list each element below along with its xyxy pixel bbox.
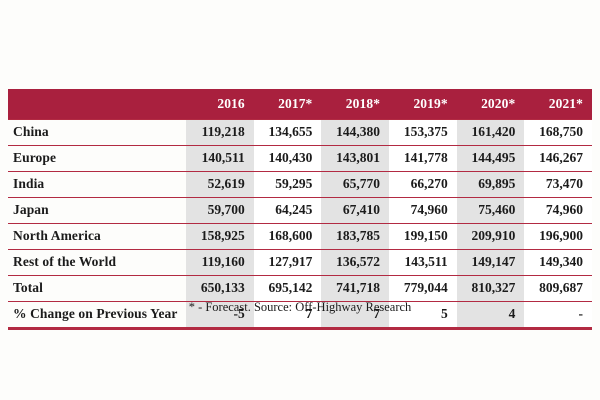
table-cell: 59,700 xyxy=(186,198,254,224)
table-cell: 810,327 xyxy=(457,276,525,302)
table-cell: 74,960 xyxy=(389,198,457,224)
table-cell: 183,785 xyxy=(321,224,389,250)
table-header: 2016 2017* 2018* 2019* 2020* 2021* xyxy=(8,89,592,120)
table-cell: 134,655 xyxy=(254,120,322,146)
table-cell: 695,142 xyxy=(254,276,322,302)
data-table-container: 2016 2017* 2018* 2019* 2020* 2021* China… xyxy=(8,89,592,330)
table-cell: 650,133 xyxy=(186,276,254,302)
table-cell: 153,375 xyxy=(389,120,457,146)
column-header-2019: 2019* xyxy=(389,89,457,120)
table-cell: 52,619 xyxy=(186,172,254,198)
table-cell: 136,572 xyxy=(321,250,389,276)
table-cell: 144,495 xyxy=(457,146,525,172)
row-label: India xyxy=(8,172,186,198)
table-cell: 144,380 xyxy=(321,120,389,146)
table-cell: 809,687 xyxy=(524,276,592,302)
table-cell: 69,895 xyxy=(457,172,525,198)
row-label: Europe xyxy=(8,146,186,172)
page-root: 2016 2017* 2018* 2019* 2020* 2021* China… xyxy=(0,0,600,400)
table-cell: 127,917 xyxy=(254,250,322,276)
table-cell: 741,718 xyxy=(321,276,389,302)
table-cell: 119,218 xyxy=(186,120,254,146)
table-cell: 74,960 xyxy=(524,198,592,224)
table-cell: 168,750 xyxy=(524,120,592,146)
table-cell: 161,420 xyxy=(457,120,525,146)
table-row: North America158,925168,600183,785199,15… xyxy=(8,224,592,250)
table-cell: 64,245 xyxy=(254,198,322,224)
table-cell: 140,511 xyxy=(186,146,254,172)
table-cell: 168,600 xyxy=(254,224,322,250)
table-cell: 779,044 xyxy=(389,276,457,302)
table-cell: 209,910 xyxy=(457,224,525,250)
column-header-2017: 2017* xyxy=(254,89,322,120)
table-cell: 158,925 xyxy=(186,224,254,250)
table-cell: 73,470 xyxy=(524,172,592,198)
table-row: China119,218134,655144,380153,375161,420… xyxy=(8,120,592,146)
forecast-table: 2016 2017* 2018* 2019* 2020* 2021* China… xyxy=(8,89,592,330)
table-row: Japan59,70064,24567,41074,96075,46074,96… xyxy=(8,198,592,224)
column-header-2018: 2018* xyxy=(321,89,389,120)
table-row: Total650,133695,142741,718779,044810,327… xyxy=(8,276,592,302)
column-header-2020: 2020* xyxy=(457,89,525,120)
table-row: Rest of the World119,160127,917136,57214… xyxy=(8,250,592,276)
table-cell: 67,410 xyxy=(321,198,389,224)
table-body: China119,218134,655144,380153,375161,420… xyxy=(8,120,592,329)
table-cell: 75,460 xyxy=(457,198,525,224)
row-label: Rest of the World xyxy=(8,250,186,276)
table-cell: 59,295 xyxy=(254,172,322,198)
table-cell: 149,340 xyxy=(524,250,592,276)
row-label: China xyxy=(8,120,186,146)
table-cell: 119,160 xyxy=(186,250,254,276)
table-cell: 199,150 xyxy=(389,224,457,250)
table-footnote: * - Forecast. Source: Off-Highway Resear… xyxy=(8,300,592,315)
table-cell: 65,770 xyxy=(321,172,389,198)
table-cell: 146,267 xyxy=(524,146,592,172)
table-header-row: 2016 2017* 2018* 2019* 2020* 2021* xyxy=(8,89,592,120)
table-corner-cell xyxy=(8,89,186,120)
table-cell: 141,778 xyxy=(389,146,457,172)
table-cell: 66,270 xyxy=(389,172,457,198)
table-cell: 196,900 xyxy=(524,224,592,250)
row-label: North America xyxy=(8,224,186,250)
table-cell: 149,147 xyxy=(457,250,525,276)
table-cell: 143,801 xyxy=(321,146,389,172)
column-header-2021: 2021* xyxy=(524,89,592,120)
row-label: Japan xyxy=(8,198,186,224)
table-cell: 143,511 xyxy=(389,250,457,276)
column-header-2016: 2016 xyxy=(186,89,254,120)
table-row: India52,61959,29565,77066,27069,89573,47… xyxy=(8,172,592,198)
table-row: Europe140,511140,430143,801141,778144,49… xyxy=(8,146,592,172)
table-cell: 140,430 xyxy=(254,146,322,172)
row-label: Total xyxy=(8,276,186,302)
